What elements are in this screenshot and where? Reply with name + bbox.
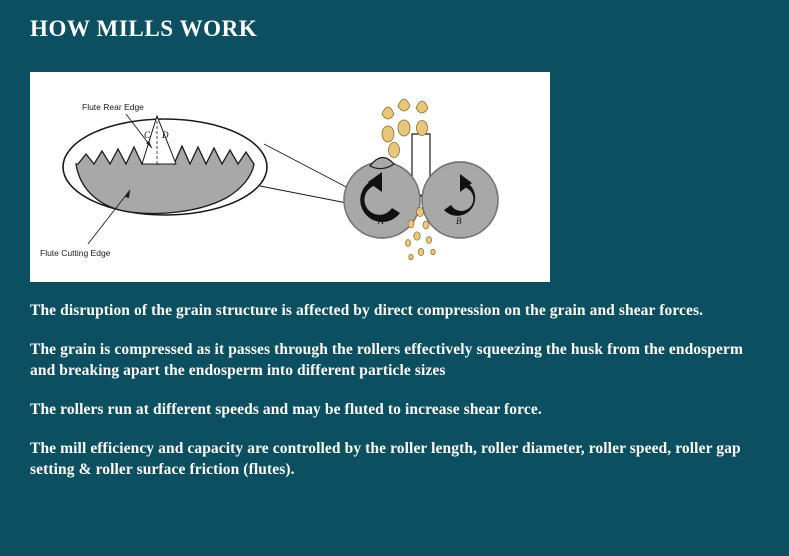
slide-page: HOW MILLS WORK C D Flute Rear Edge Fl bbox=[0, 0, 789, 556]
angle-d-label: D bbox=[161, 130, 169, 140]
flute-rear-edge-label: Flute Rear Edge bbox=[82, 102, 144, 112]
body-text-block: The disruption of the grain structure is… bbox=[30, 300, 760, 480]
figure-container: C D Flute Rear Edge Flute Cutting Edge bbox=[30, 72, 550, 282]
roller-b-label: B bbox=[456, 216, 462, 226]
paragraph-1: The disruption of the grain structure is… bbox=[30, 300, 760, 321]
roller-a-label: A bbox=[377, 216, 384, 226]
paragraph-2: The grain is compressed as it passes thr… bbox=[30, 339, 760, 381]
flute-angle-wedge bbox=[142, 116, 176, 164]
page-title: HOW MILLS WORK bbox=[30, 16, 257, 42]
mill-diagram-svg: C D Flute Rear Edge Flute Cutting Edge bbox=[30, 72, 550, 282]
paragraph-4: The mill efficiency and capacity are con… bbox=[30, 438, 760, 480]
paragraph-3: The rollers run at different speeds and … bbox=[30, 399, 760, 420]
flute-cutting-edge-label: Flute Cutting Edge bbox=[40, 248, 111, 258]
magnification-cone bbox=[260, 144, 352, 204]
roller-b: B bbox=[422, 162, 498, 238]
